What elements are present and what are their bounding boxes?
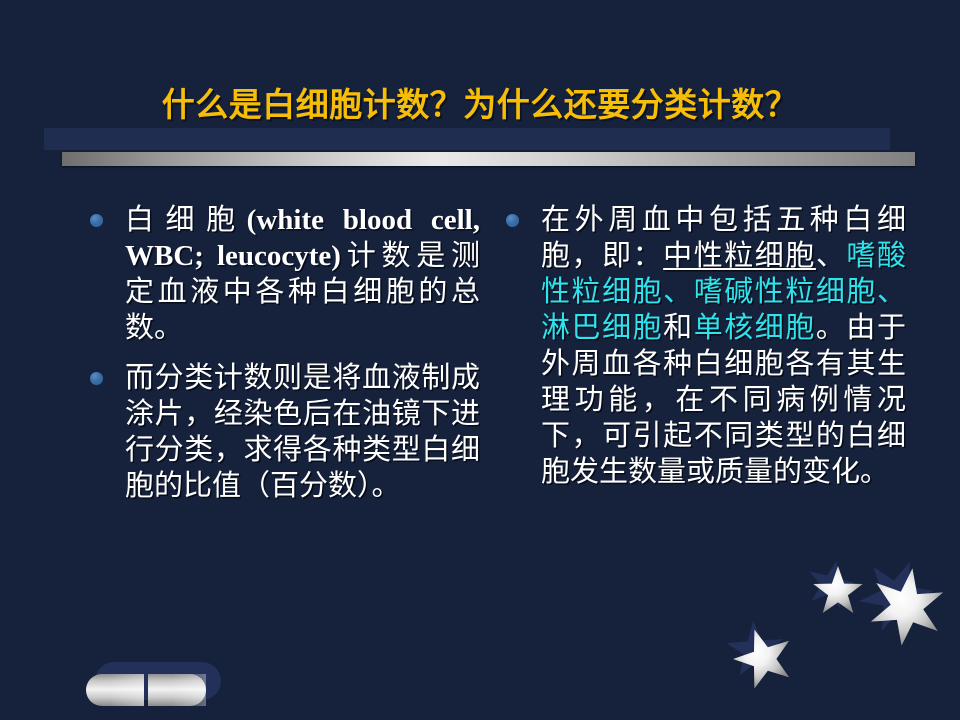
bullet-item: 在外周血中包括五种白细胞，即：中性粒细胞、嗜酸性粒细胞、嗜碱性粒细胞、淋巴细胞和… [496,202,906,490]
text-run: 而分类计数则是将血液制成涂片，经染色后在油镜下进行分类，求得各种类型白细胞的比值… [125,362,480,502]
star-body [813,566,862,613]
left-content-column: 白细胞(white blood cell, WBC; leucocyte)计数是… [80,202,480,518]
bullet-dot-icon [90,372,103,385]
title-background-band [44,128,890,150]
bullet-text: 白细胞(white blood cell, WBC; leucocyte)计数是… [125,202,480,346]
bullet-item: 白细胞(white blood cell, WBC; leucocyte)计数是… [80,202,480,346]
bullet-text: 而分类计数则是将血液制成涂片，经染色后在油镜下进行分类，求得各种类型白细胞的比值… [125,360,480,504]
text-run: 单核细胞 [694,312,816,344]
text-run: 白细胞 [125,204,247,236]
left-arrow-icon [86,674,144,706]
bullet-dot-icon [90,214,103,227]
text-run: 中性粒细胞 [663,240,816,272]
text-run: 、 [816,240,847,272]
bullet-item: 而分类计数则是将血液制成涂片，经染色后在油镜下进行分类，求得各种类型白细胞的比值… [80,360,480,504]
text-run: 和 [663,312,694,344]
right-content-column: 在外周血中包括五种白细胞，即：中性粒细胞、嗜酸性粒细胞、嗜碱性粒细胞、淋巴细胞和… [496,202,906,504]
star-lower-left-icon [733,628,795,690]
bullet-dot-icon [506,214,519,227]
right-arrow-icon [148,674,206,706]
star-small-mid-icon [812,566,864,618]
next-slide-button[interactable] [148,674,206,706]
slide-canvas: 什么是白细胞计数？为什么还要分类计数？ 白细胞(white blood cell… [0,0,960,720]
star-large-right-icon [868,568,946,646]
title-divider-bar [62,152,915,166]
navigation-pill[interactable] [86,668,212,706]
previous-slide-button[interactable] [86,674,144,706]
slide-title: 什么是白细胞计数？为什么还要分类计数？ [40,84,920,128]
star-body [733,630,789,689]
bullet-text: 在外周血中包括五种白细胞，即：中性粒细胞、嗜酸性粒细胞、嗜碱性粒细胞、淋巴细胞和… [541,202,906,490]
